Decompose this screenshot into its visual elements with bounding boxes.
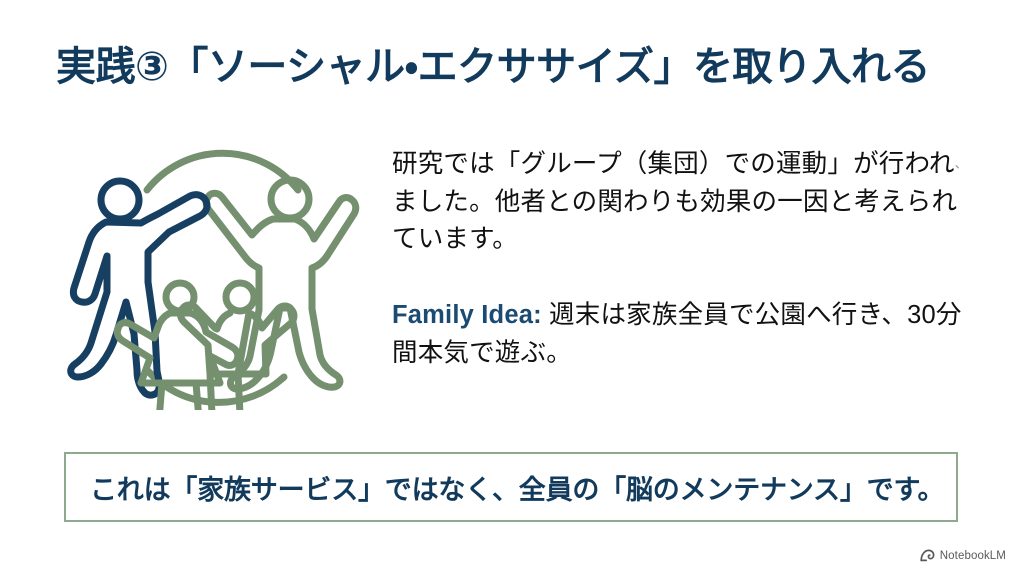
body-text-column: 研究では「グループ（集団）での運動」が行われ、ました。他者との関わりも効果の一因…: [392, 146, 988, 373]
notebooklm-watermark: NotebookLM: [920, 549, 1006, 562]
paragraph-family-idea: Family Idea: 週末は家族全員で公園へ行き、30分間本気で遊ぶ。: [392, 297, 977, 372]
render-artifact-mark: 、: [955, 156, 968, 171]
slide-root: 実践③「ソーシャル・エクササイズ」を取り入れる: [0, 0, 1024, 572]
family-group-exercise-icon: [62, 142, 382, 410]
notebooklm-spark-icon: [920, 549, 935, 562]
callout-box: これは「家族サービス」ではなく、全員の「脳のメンテナンス」です。: [64, 452, 958, 522]
paragraph-research: 研究では「グループ（集団）での運動」が行われ、ました。他者との関わりも効果の一因…: [392, 146, 977, 259]
family-idea-label: Family Idea:: [392, 301, 542, 329]
paragraph-research-c: ました。他者との関わりも効果の一因と考えられています。: [392, 188, 957, 254]
paragraph-research-a: 研究では「グループ（集団）での運動」が行わ: [392, 150, 929, 178]
callout-text: これは「家族サービス」ではなく、全員の「脳のメンテナンス」です。: [66, 468, 944, 507]
notebooklm-label: NotebookLM: [940, 550, 1006, 562]
page-title: 実践③「ソーシャル・エクササイズ」を取り入れる: [56, 44, 986, 90]
paragraph-research-b: れ: [929, 150, 955, 178]
